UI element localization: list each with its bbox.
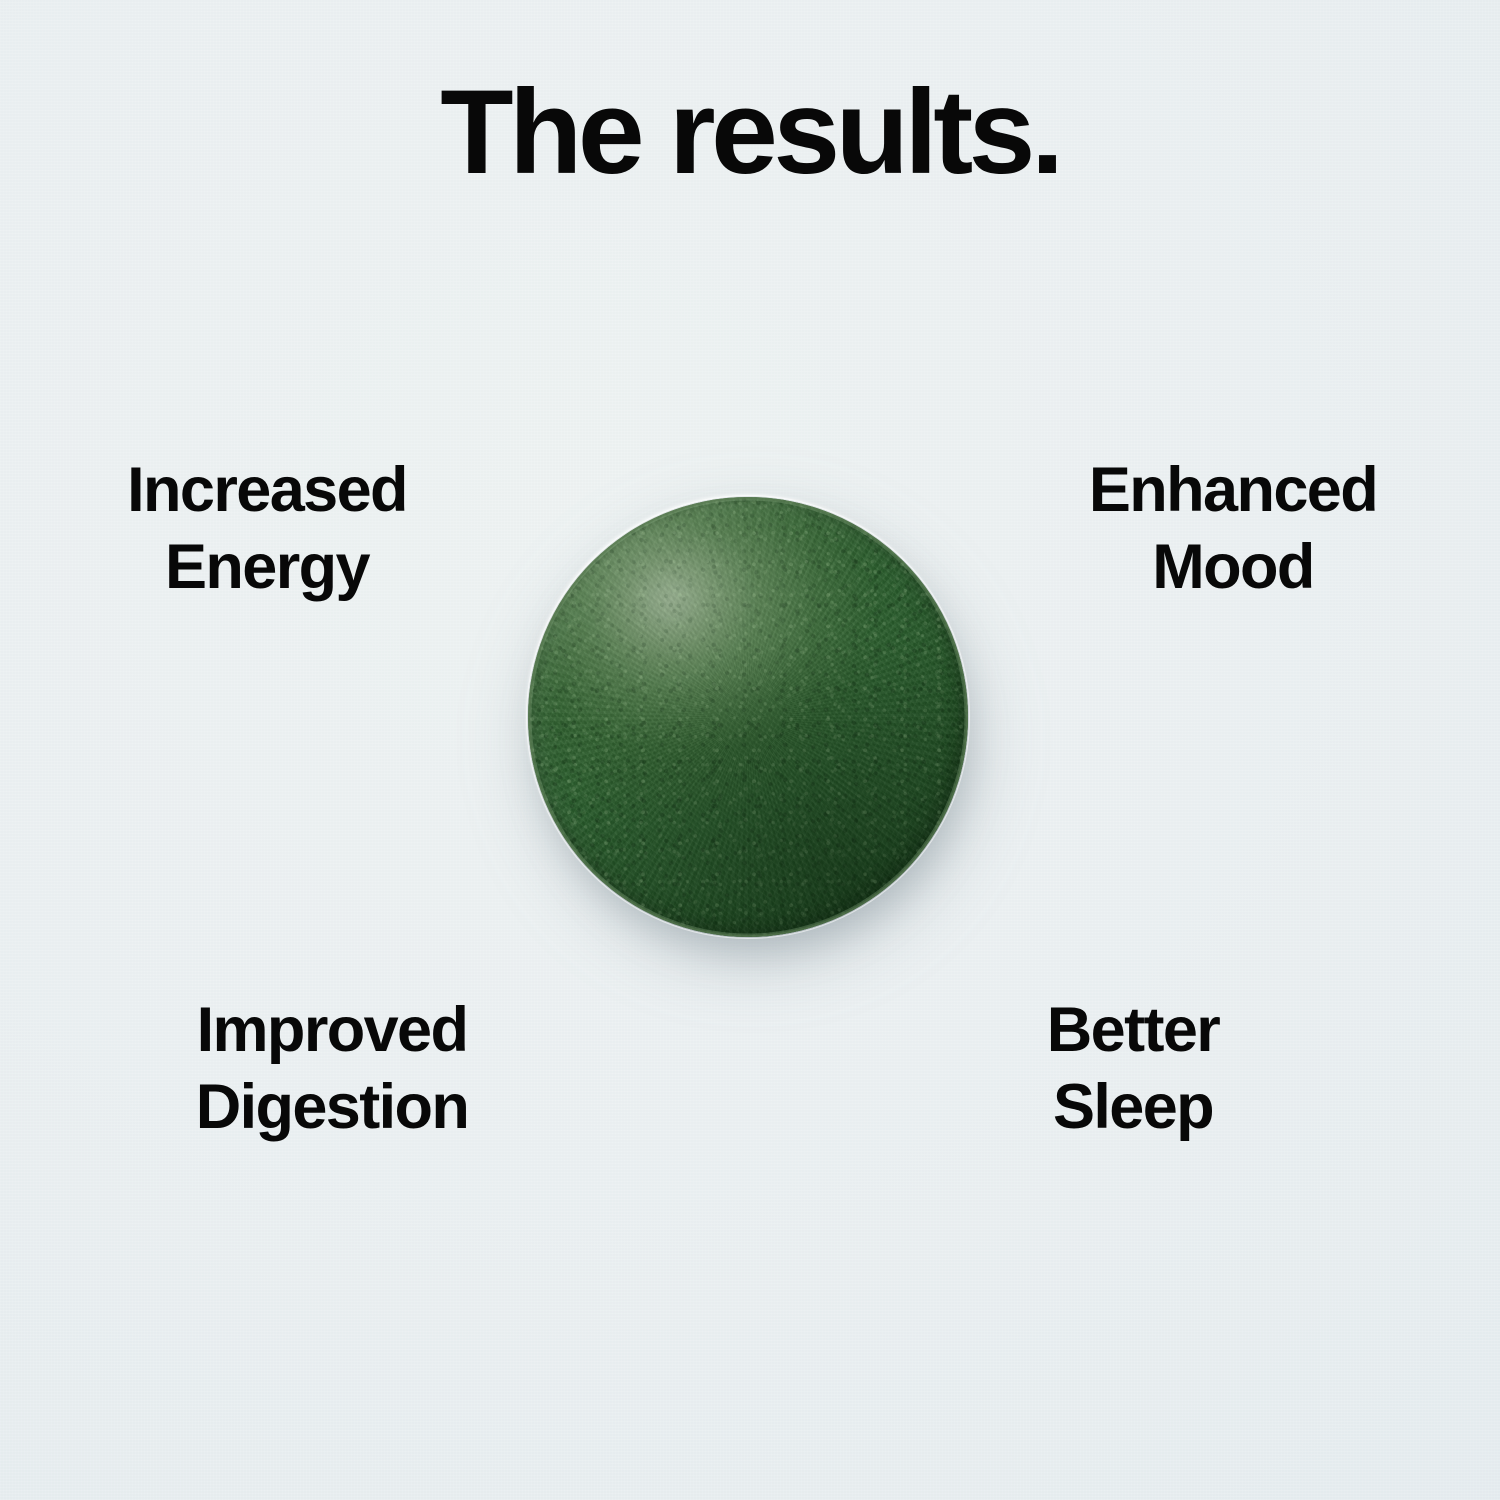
- benefit-line-1: Improved: [82, 992, 582, 1069]
- poster-canvas: The results. Increased Energy Enhanced M…: [0, 0, 1500, 1500]
- benefit-line-2: Sleep: [958, 1069, 1308, 1146]
- product-speckle-texture: [528, 497, 968, 937]
- product-micro-grain: [528, 497, 968, 937]
- benefit-line-2: Energy: [22, 529, 512, 606]
- benefit-line-1: Increased: [22, 452, 512, 529]
- product-sheen-highlight: [528, 497, 968, 937]
- product-image-green-tablet: [528, 497, 968, 937]
- product-bevel-rim: [528, 497, 968, 937]
- benefit-label-improved-digestion: Improved Digestion: [82, 992, 582, 1146]
- benefit-line-1: Enhanced: [988, 452, 1478, 529]
- benefit-label-increased-energy: Increased Energy: [22, 452, 512, 606]
- page-title: The results.: [0, 72, 1500, 192]
- benefit-line-1: Better: [958, 992, 1308, 1069]
- benefit-label-better-sleep: Better Sleep: [958, 992, 1308, 1146]
- benefit-label-enhanced-mood: Enhanced Mood: [988, 452, 1478, 606]
- benefit-line-2: Digestion: [82, 1069, 582, 1146]
- benefit-line-2: Mood: [988, 529, 1478, 606]
- product-edge-knurl: [528, 497, 968, 937]
- product-tablet-body: [528, 497, 968, 937]
